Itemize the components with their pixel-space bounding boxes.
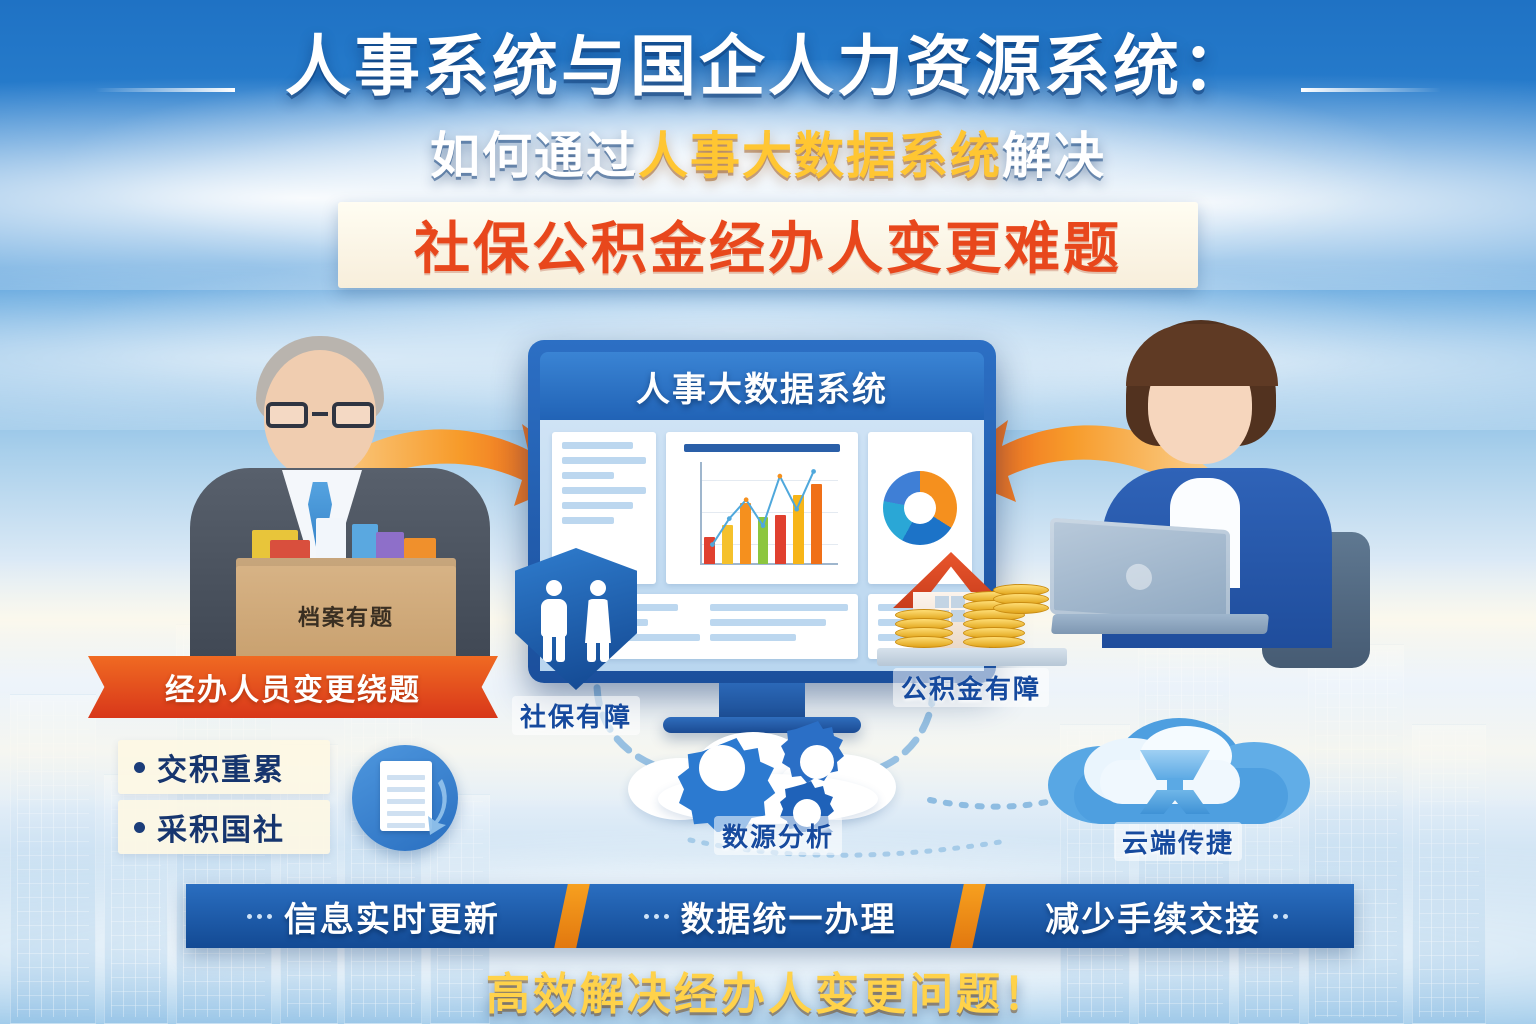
monitor-header: 人事大数据系统 xyxy=(540,352,984,420)
chart-plot-area xyxy=(682,462,842,574)
ribbon-shape: 经办人员变更绕题 xyxy=(88,656,498,718)
dots-icon xyxy=(644,914,669,919)
gears-cloud-icon xyxy=(628,712,928,832)
infographic-poster: 人事系统与国企人力资源系统： 如何通过人事大数据系统解决 社保公积金经办人变更难… xyxy=(0,0,1536,1024)
node-social-insurance: 社保有障 xyxy=(488,548,664,735)
ribbon-label: 经办人员变更绕题 xyxy=(165,665,421,709)
cloud-upload-icon xyxy=(1048,712,1308,832)
person-incoming-officer xyxy=(1030,318,1390,668)
coin-stack-top xyxy=(993,587,1049,614)
node-cloud-service: 云端传捷 xyxy=(1038,712,1318,861)
subtitle-highlight: 人事大数据系统 xyxy=(638,128,1002,184)
benefit-label: 减少手续交接 xyxy=(1045,892,1261,941)
bullet-dot-icon xyxy=(134,822,145,833)
document-refresh-icon xyxy=(352,745,458,851)
node-cloud-label: 云端传捷 xyxy=(1114,822,1242,861)
subtitle-suffix: 解决 xyxy=(1002,128,1106,184)
family-figures-icon xyxy=(539,574,613,662)
glasses-icon xyxy=(266,402,374,428)
title-banner: 社保公积金经办人变更难题 xyxy=(338,202,1198,288)
house-coins-icon xyxy=(871,536,1071,666)
bullet-label: 交积重累 xyxy=(157,745,285,789)
laptop-keyboard xyxy=(1051,614,1269,634)
node-gears-label: 数源分析 xyxy=(714,816,842,855)
dots-icon xyxy=(247,914,272,919)
benefit-item-0: 信息实时更新 xyxy=(186,884,561,948)
chart-trend-line xyxy=(704,462,822,580)
person-outgoing-officer: 档案有题 xyxy=(170,330,510,670)
benefits-bar: 信息实时更新 数据统一办理 减少手续交接 xyxy=(186,884,1354,948)
upload-arrow-icon xyxy=(1140,750,1210,812)
chart-title-bar xyxy=(684,444,840,452)
moving-box: 档案有题 xyxy=(236,558,456,670)
subtitle-prefix: 如何通过 xyxy=(430,128,638,184)
problem-ribbon: 经办人员变更绕题 xyxy=(88,656,498,718)
benefit-label: 数据统一办理 xyxy=(681,892,897,941)
bullet-dot-icon xyxy=(134,762,145,773)
chart-y-axis xyxy=(700,462,702,565)
title-rule-left xyxy=(95,88,235,92)
list-item: 交积重累 xyxy=(118,740,330,794)
title-block: 人事系统与国企人力资源系统： 如何通过人事大数据系统解决 社保公积金经办人变更难… xyxy=(0,30,1536,288)
dots-icon xyxy=(1273,914,1288,919)
moving-box-label: 档案有题 xyxy=(236,600,456,632)
laptop-screen xyxy=(1050,518,1230,627)
slogan-text: 高效解决经办人变更问题！ xyxy=(486,970,1050,1019)
benefit-item-2: 减少手续交接 xyxy=(979,884,1354,948)
list-item: 采积国社 xyxy=(118,800,330,854)
family-shield-icon xyxy=(515,548,637,690)
node-housing-fund: 公积金有障 xyxy=(866,536,1076,707)
page-title: 人事系统与国企人力资源系统： xyxy=(0,30,1536,104)
donut-ring xyxy=(883,471,957,545)
title-banner-text: 社保公积金经办人变更难题 xyxy=(414,204,1122,285)
woman-fringe xyxy=(1126,324,1278,386)
node-data-analysis: 数源分析 xyxy=(618,712,938,855)
title-rule-right xyxy=(1301,88,1441,92)
dashboard-combo-chart xyxy=(666,432,858,584)
platform xyxy=(877,648,1067,666)
page-subtitle: 如何通过人事大数据系统解决 xyxy=(0,116,1536,188)
bullet-label: 采积国社 xyxy=(157,805,285,849)
monitor-title: 人事大数据系统 xyxy=(636,362,888,411)
bottom-slogan: 高效解决经办人变更问题！ xyxy=(0,958,1536,1022)
benefit-item-1: 数据统一办理 xyxy=(583,884,958,948)
node-house-label: 公积金有障 xyxy=(893,668,1049,707)
benefit-label: 信息实时更新 xyxy=(284,892,500,941)
coin-stack-small xyxy=(895,612,953,648)
